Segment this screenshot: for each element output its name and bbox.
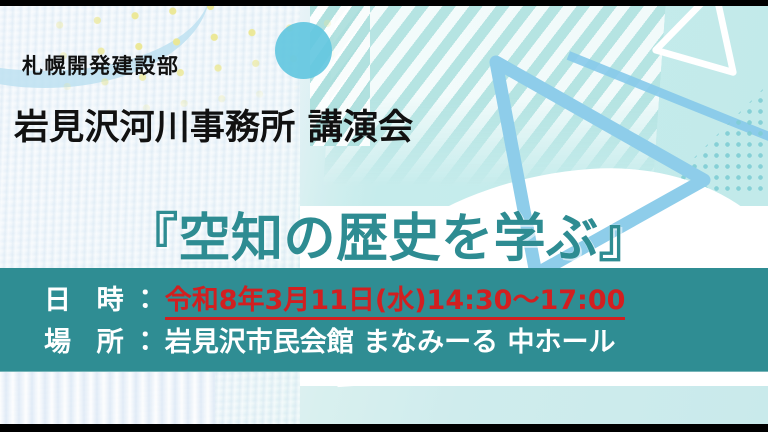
poster-root: 札幌開発建設部 岩見沢河川事務所 講演会 『空知の歴史を学ぶ』 日 時：令和8年… <box>0 0 768 432</box>
letterbox-bar-bottom <box>0 424 768 432</box>
place-colon: ： <box>132 327 159 358</box>
page-title: 『空知の歴史を学ぶ』 <box>126 196 651 271</box>
date-value: 令和8年3月11日(水)14:30〜17:00 <box>165 285 626 320</box>
paper-texture-bottom <box>0 372 215 424</box>
place-label: 場 所 <box>44 327 132 358</box>
place-value: 岩見沢市民会館 まなみーる 中ホール <box>165 327 616 358</box>
info-banner: 日 時：令和8年3月11日(水)14:30〜17:00 場 所：岩見沢市民会館 … <box>0 268 768 372</box>
date-label: 日 時 <box>44 285 132 316</box>
poster-stage: 札幌開発建設部 岩見沢河川事務所 講演会 『空知の歴史を学ぶ』 日 時：令和8年… <box>0 6 768 424</box>
blue-circle-decoration <box>275 22 332 79</box>
letterbox-bar-top <box>0 0 768 6</box>
banner-row-place: 場 所：岩見沢市民会館 まなみーる 中ホール <box>44 320 616 359</box>
banner-row-date: 日 時：令和8年3月11日(水)14:30〜17:00 <box>44 278 625 317</box>
event-organizer-title: 岩見沢河川事務所 講演会 <box>14 99 413 150</box>
date-colon: ： <box>132 285 159 316</box>
department-name: 札幌開発建設部 <box>22 50 179 80</box>
